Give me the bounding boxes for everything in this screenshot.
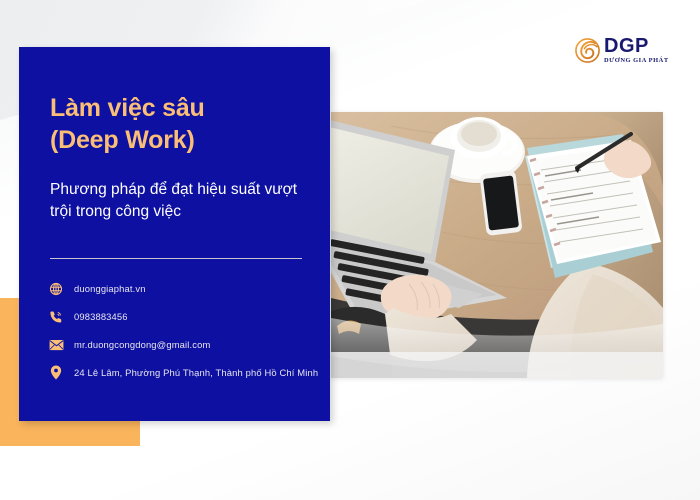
page-subtitle: Phương pháp để đạt hiệu suất vượt trội t… <box>50 179 318 223</box>
contact-phone-text: 0983883456 <box>74 311 128 322</box>
contact-item-address[interactable]: 24 Lê Lâm, Phường Phú Thạnh, Thành phố H… <box>46 362 326 383</box>
workspace-photo-illustration <box>331 112 663 378</box>
contact-address-text: 24 Lê Lâm, Phường Phú Thạnh, Thành phố H… <box>74 367 318 378</box>
slide-canvas: Làm việc sâu (Deep Work) Phương pháp để … <box>0 0 700 500</box>
location-pin-icon <box>46 365 66 381</box>
contact-website-text: duonggiaphat.vn <box>74 283 146 294</box>
contact-email-text: mr.duongcongdong@gmail.com <box>74 339 210 350</box>
hero-photo <box>331 112 663 378</box>
logo-main-text: DGP <box>604 36 669 56</box>
phone-icon <box>46 309 66 325</box>
contact-list: duonggiaphat.vn 0983883456 <box>46 278 326 390</box>
content-panel: Làm việc sâu (Deep Work) Phương pháp để … <box>19 47 330 421</box>
globe-icon <box>46 281 66 297</box>
divider <box>50 258 302 259</box>
contact-item-website[interactable]: duonggiaphat.vn <box>46 278 326 299</box>
page-title: Làm việc sâu (Deep Work) <box>50 93 320 156</box>
logo-wordmark: DGP DƯƠNG GIA PHÁT <box>604 36 669 64</box>
envelope-icon <box>46 337 66 353</box>
brand-logo[interactable]: DGP DƯƠNG GIA PHÁT <box>575 36 669 64</box>
contact-item-email[interactable]: mr.duongcongdong@gmail.com <box>46 334 326 355</box>
logo-sub-text: DƯƠNG GIA PHÁT <box>604 58 669 64</box>
spiral-swirl-icon <box>575 38 600 63</box>
contact-item-phone[interactable]: 0983883456 <box>46 306 326 327</box>
